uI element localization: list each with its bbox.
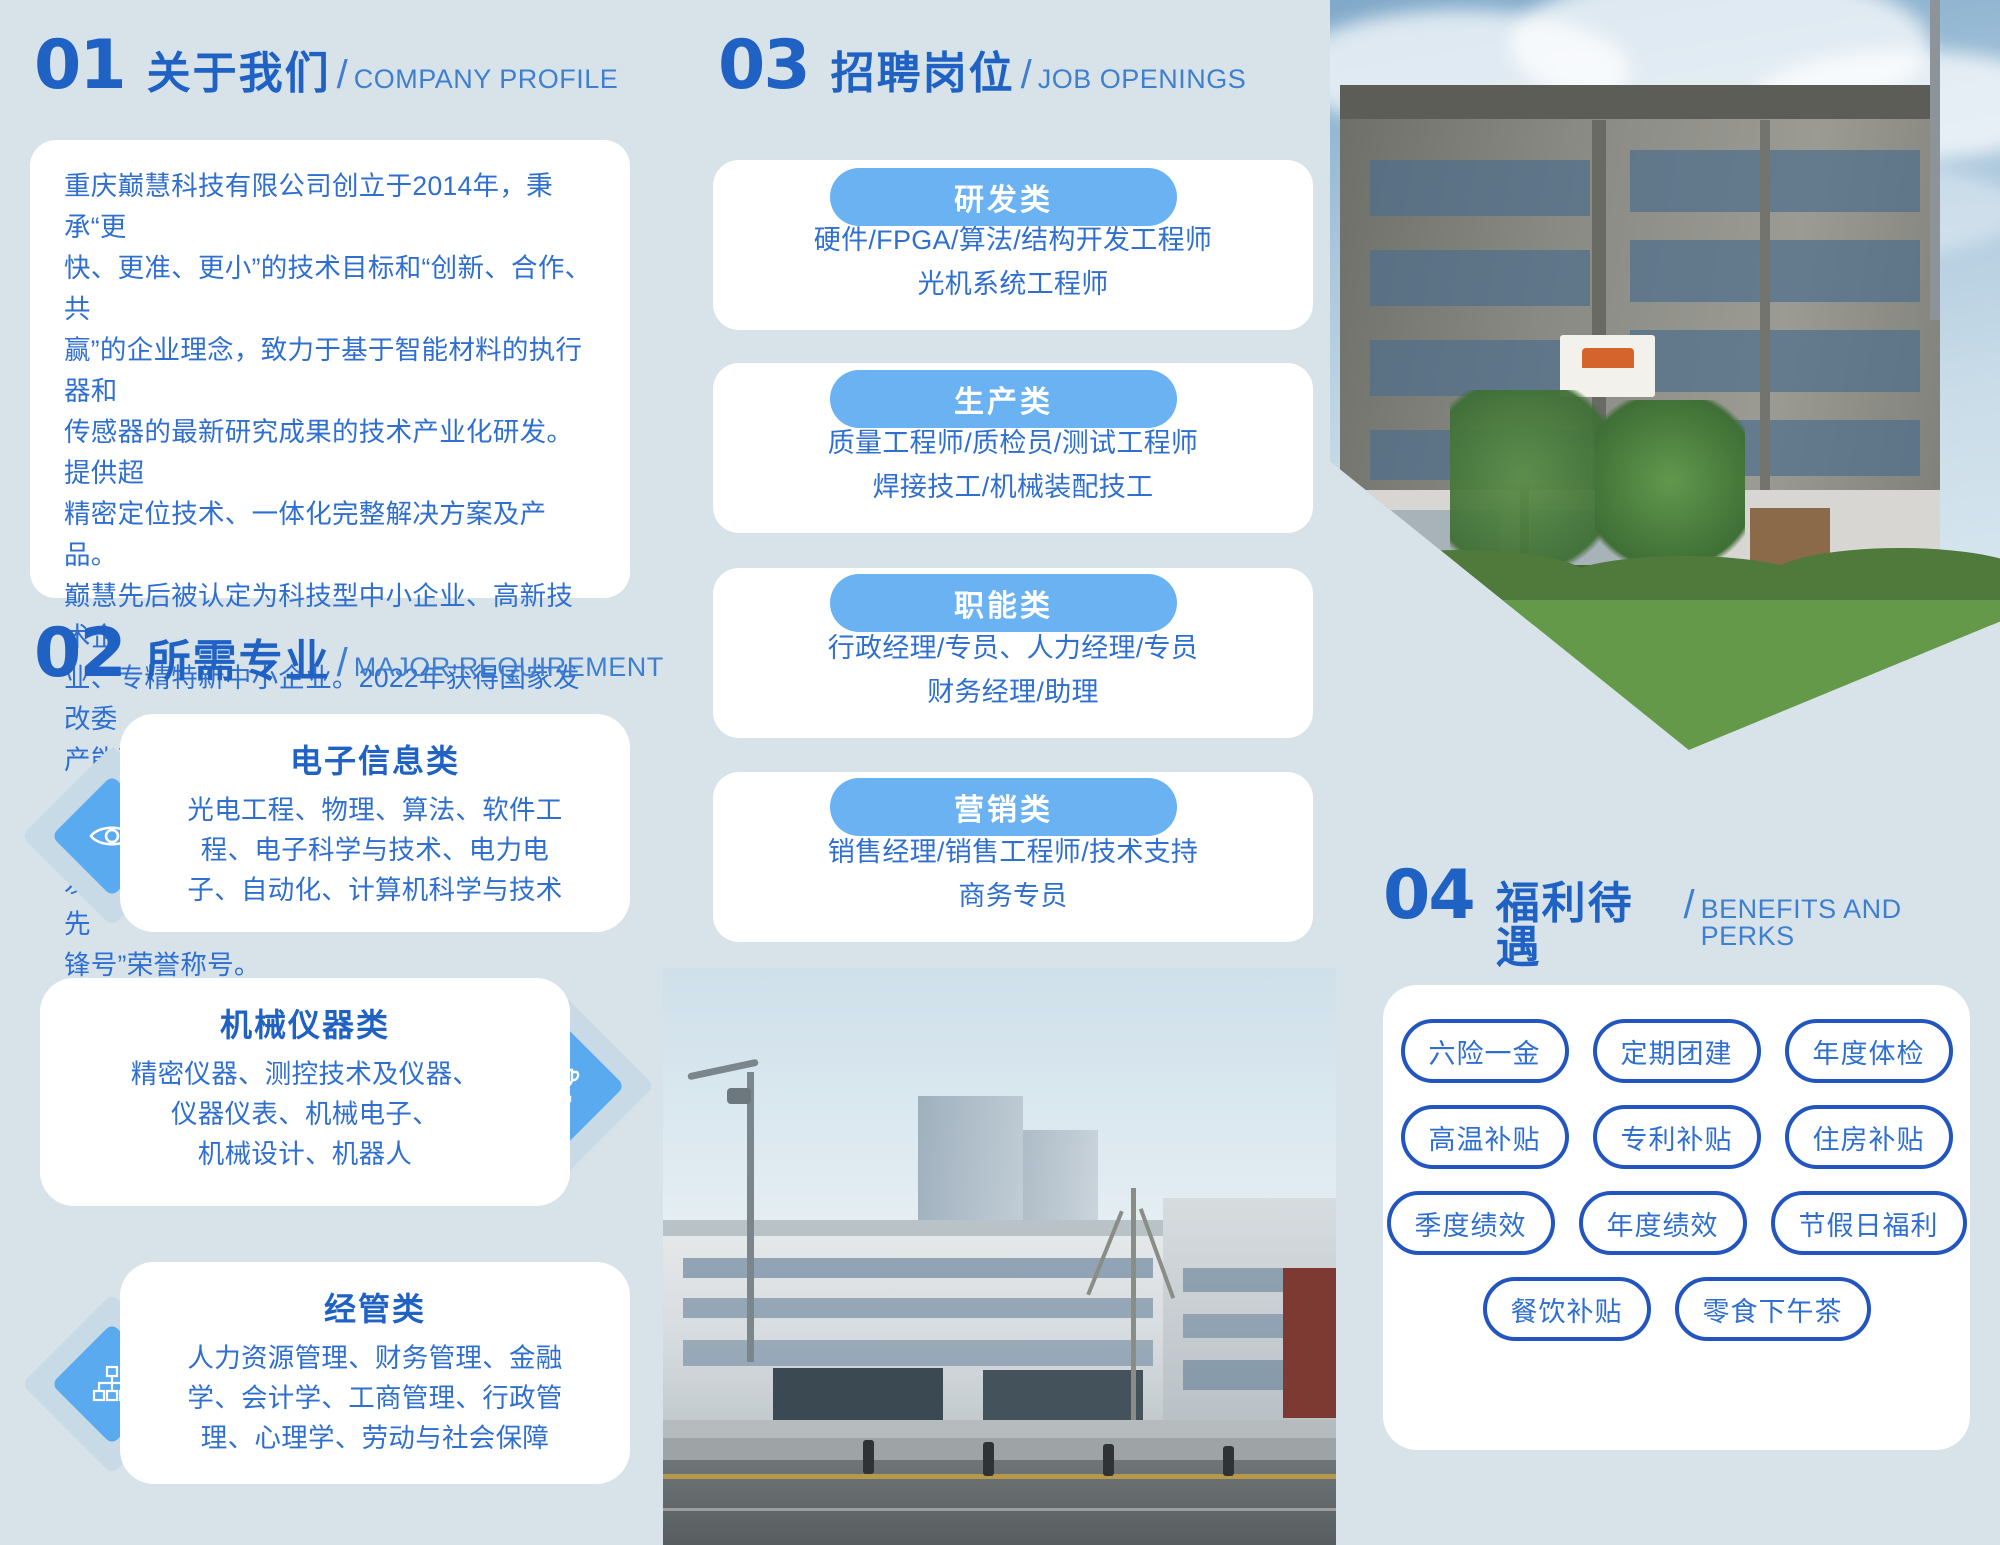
job-pill-functional[interactable]: 职能类 xyxy=(830,574,1177,632)
benefit-row: 餐饮补贴 零食下午茶 xyxy=(1483,1277,1871,1341)
section-title-en: BENEFITS AND PERKS xyxy=(1701,896,2000,950)
major-card-economics-management: 经管类 人力资源管理、财务管理、金融 学、会计学、工商管理、行政管 理、心理学、… xyxy=(120,1262,630,1484)
office-building-exterior-photo xyxy=(1330,0,2000,750)
benefits-card: 六险一金 定期团建 年度体检 高温补贴 专利补贴 住房补贴 季度绩效 年度绩效 … xyxy=(1383,985,1970,1450)
section-number: 03 xyxy=(718,32,809,100)
section-divider: / xyxy=(1683,883,1694,928)
benefit-pill[interactable]: 季度绩效 xyxy=(1387,1191,1555,1255)
benefit-pill[interactable]: 年度绩效 xyxy=(1579,1191,1747,1255)
major-title: 电子信息类 xyxy=(146,736,604,782)
section-number: 01 xyxy=(34,32,125,100)
recruitment-poster: 01 关于我们 / COMPANY PROFILE 重庆巅慧科技有限公司创立于2… xyxy=(0,0,2000,1545)
benefit-pill[interactable]: 高温补贴 xyxy=(1401,1105,1569,1169)
section-title-en: MAJOR REQUIREMENT xyxy=(354,654,664,681)
section-title-cn: 关于我们 xyxy=(147,52,331,96)
section-title-cn: 招聘岗位 xyxy=(831,52,1015,96)
section-divider: / xyxy=(1021,53,1032,98)
company-profile-card: 重庆巅慧科技有限公司创立于2014年，秉承“更 快、更准、更小”的技术目标和“创… xyxy=(30,140,630,598)
benefit-pill[interactable]: 零食下午茶 xyxy=(1675,1277,1871,1341)
section-divider: / xyxy=(337,641,348,686)
benefit-pill[interactable]: 餐饮补贴 xyxy=(1483,1277,1651,1341)
benefit-pill[interactable]: 住房补贴 xyxy=(1785,1105,1953,1169)
section-header-job-openings: 03 招聘岗位 / JOB OPENINGS xyxy=(718,32,1246,100)
major-body: 精密仪器、测控技术及仪器、 仪器仪表、机械电子、 机械设计、机器人 xyxy=(66,1054,544,1174)
section-number: 04 xyxy=(1383,862,1474,930)
job-pill-rd[interactable]: 研发类 xyxy=(830,168,1177,226)
major-title: 经管类 xyxy=(146,1284,604,1330)
major-body: 人力资源管理、财务管理、金融 学、会计学、工商管理、行政管 理、心理学、劳动与社… xyxy=(146,1338,604,1458)
section-title-en: JOB OPENINGS xyxy=(1038,66,1247,93)
section-number: 02 xyxy=(34,620,125,688)
section-header-benefits: 04 福利待遇 / BENEFITS AND PERKS xyxy=(1383,862,2000,970)
benefit-pill[interactable]: 专利补贴 xyxy=(1593,1105,1761,1169)
major-card-mechanical-instruments: 机械仪器类 精密仪器、测控技术及仪器、 仪器仪表、机械电子、 机械设计、机器人 xyxy=(40,978,570,1206)
benefit-row: 高温补贴 专利补贴 住房补贴 xyxy=(1401,1105,1953,1169)
section-title-en: COMPANY PROFILE xyxy=(354,66,619,93)
section-header-company-profile: 01 关于我们 / COMPANY PROFILE xyxy=(34,32,618,100)
major-title: 机械仪器类 xyxy=(66,1000,544,1046)
benefit-pill[interactable]: 年度体检 xyxy=(1785,1019,1953,1083)
section-divider: / xyxy=(337,53,348,98)
benefit-pill[interactable]: 节假日福利 xyxy=(1771,1191,1967,1255)
benefit-pill[interactable]: 定期团建 xyxy=(1593,1019,1761,1083)
benefit-pill[interactable]: 六险一金 xyxy=(1401,1019,1569,1083)
job-pill-marketing[interactable]: 营销类 xyxy=(830,778,1177,836)
section-title-cn: 福利待遇 xyxy=(1496,882,1678,970)
section-title-cn: 所需专业 xyxy=(147,640,331,684)
benefit-row: 季度绩效 年度绩效 节假日福利 xyxy=(1387,1191,1967,1255)
benefit-row: 六险一金 定期团建 年度体检 xyxy=(1401,1019,1953,1083)
job-pill-production[interactable]: 生产类 xyxy=(830,370,1177,428)
campus-street-view-photo xyxy=(663,968,1336,1545)
section-header-major-requirement: 02 所需专业 / MAJOR REQUIREMENT xyxy=(34,620,664,688)
major-card-electronic-information: 电子信息类 光电工程、物理、算法、软件工 程、电子科学与技术、电力电 子、自动化… xyxy=(120,714,630,932)
major-body: 光电工程、物理、算法、软件工 程、电子科学与技术、电力电 子、自动化、计算机科学… xyxy=(146,790,604,910)
